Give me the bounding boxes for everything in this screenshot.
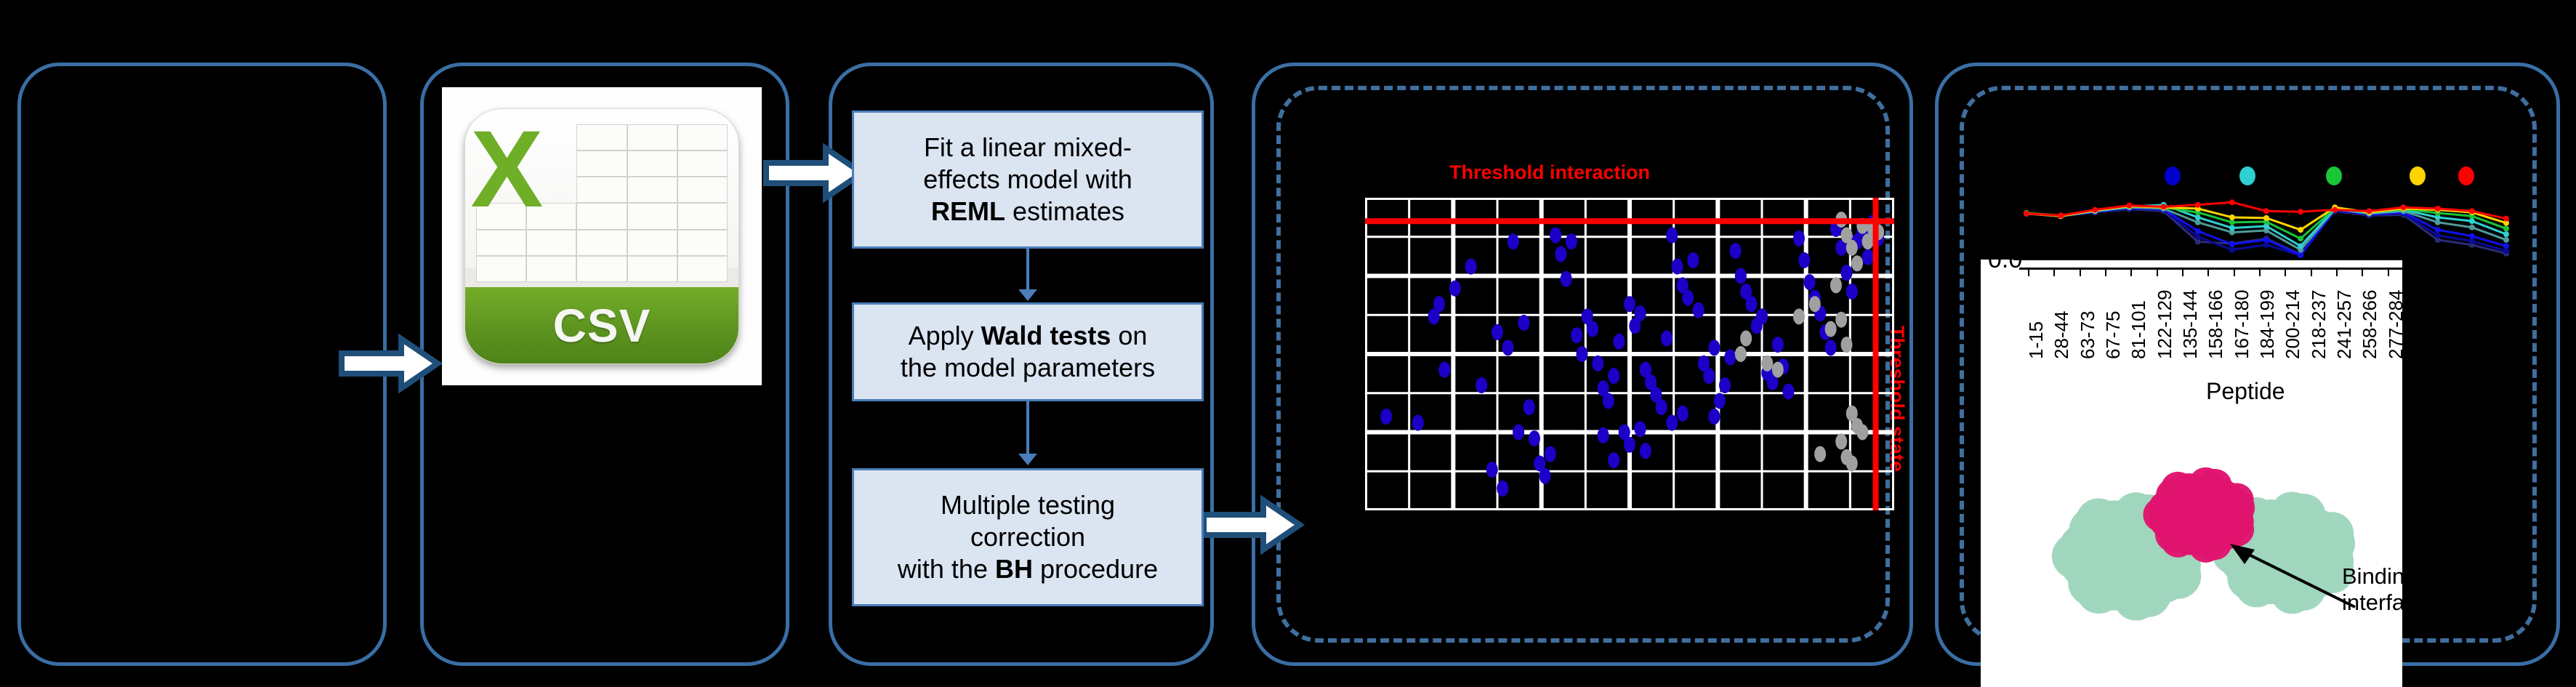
- scatter-point: [1449, 281, 1461, 297]
- scatter-point: [1608, 452, 1619, 468]
- peptide-x-tick: 258-266: [2359, 290, 2381, 359]
- peptide-x-tick: 277-284: [2385, 290, 2407, 359]
- step-bh-line3-post: procedure: [1033, 554, 1158, 584]
- peptide-series-point: [2435, 206, 2441, 212]
- spreadsheet-cell: [576, 203, 627, 229]
- peptide-series-point: [2263, 242, 2269, 248]
- arrow-to-csv: [339, 334, 440, 393]
- scatter-point: [1571, 327, 1582, 343]
- scatter-point: [1809, 296, 1821, 312]
- peptide-series-point: [2435, 233, 2441, 238]
- step-reml-box[interactable]: Fit a linear mixed- effects model with R…: [852, 111, 1204, 249]
- scatter-point: [1598, 427, 1609, 443]
- excel-x-glyph: X: [470, 114, 569, 221]
- scatter-point: [1624, 296, 1635, 312]
- peptide-series-point: [2229, 247, 2235, 253]
- scatter-point: [1518, 315, 1529, 331]
- scatter-point: [1682, 290, 1694, 306]
- scatter-point: [1851, 255, 1863, 271]
- spreadsheet-cell: [576, 230, 627, 256]
- step-bh-line2: correction: [970, 522, 1085, 552]
- peptide-series-point: [2195, 228, 2201, 234]
- binding-interface-line1: Binding: [2342, 563, 2417, 589]
- scatter-point: [1492, 324, 1503, 340]
- spreadsheet-cell: [627, 150, 677, 177]
- peptide-series-point: [2503, 244, 2509, 249]
- peptide-x-axis-title: Peptide: [2206, 378, 2285, 405]
- peptide-series-point: [2435, 220, 2441, 225]
- peptide-series-point: [2332, 207, 2338, 213]
- spreadsheet-cell: [576, 124, 627, 150]
- peptide-series-point: [2298, 227, 2303, 233]
- scatter-point: [1856, 425, 1868, 441]
- scatter-point: [1825, 321, 1837, 337]
- scatter-point: [1666, 228, 1678, 244]
- spreadsheet-cell: [627, 177, 677, 203]
- scatter-point: [1714, 393, 1726, 409]
- csv-file-icon[interactable]: X CSV: [442, 87, 762, 385]
- scatter-point: [1693, 302, 1704, 318]
- peptide-series-point: [2229, 225, 2235, 231]
- legend-dot-1: [2239, 166, 2255, 185]
- peptide-x-tick: 122-129: [2154, 290, 2176, 359]
- scatter-point: [1793, 308, 1805, 324]
- peptide-series-point: [2503, 248, 2509, 254]
- peptide-series-point: [2024, 211, 2029, 217]
- peptide-series-point: [2195, 202, 2201, 208]
- scatter-point: [1428, 308, 1440, 324]
- scatter-point: [1814, 446, 1826, 462]
- scatter-point: [1724, 349, 1736, 365]
- scatter-point: [1476, 377, 1487, 393]
- peptide-series-point: [2366, 208, 2372, 214]
- spreadsheet-row: [476, 256, 728, 282]
- step-bh-line3-pre: with the: [898, 554, 995, 584]
- volcano-scatter-plot: [1365, 198, 1894, 510]
- scatter-point: [1412, 415, 1424, 431]
- scatter-point: [1740, 331, 1752, 347]
- spreadsheet-cell: [576, 177, 627, 203]
- peptide-series-point: [2503, 237, 2509, 243]
- scatter-point: [1672, 259, 1683, 275]
- spreadsheet-cell: [576, 150, 627, 177]
- scatter-point: [1603, 393, 1614, 409]
- scatter-point: [1555, 246, 1566, 262]
- peptide-series-point: [2469, 218, 2475, 224]
- connector-wald-to-bh-head: [1018, 454, 1037, 465]
- scatter-point: [1635, 305, 1646, 321]
- peptide-series-point: [2298, 209, 2303, 214]
- step-wald-box[interactable]: Apply Wald tests on the model parameters: [852, 302, 1204, 401]
- scatter-point: [1566, 233, 1577, 249]
- scatter-point: [1735, 346, 1747, 362]
- step-bh-box[interactable]: Multiple testing correction with the BH …: [852, 468, 1204, 606]
- scatter-point: [1539, 468, 1551, 484]
- step-wald-line2: the model parameters: [901, 353, 1155, 382]
- scatter-point: [1835, 433, 1847, 449]
- scatter-point: [1508, 233, 1519, 249]
- scatter-point: [1666, 415, 1678, 431]
- spreadsheet-cell: [677, 177, 728, 203]
- legend-dot-3: [2410, 166, 2426, 185]
- peptide-series-point: [2298, 236, 2303, 241]
- scatter-point: [1486, 462, 1498, 478]
- scatter-point: [1772, 362, 1784, 378]
- step-bh-line1: Multiple testing: [941, 490, 1115, 520]
- spreadsheet-cell: [526, 256, 576, 282]
- scatter-point: [1438, 362, 1450, 378]
- csv-band-label: CSV: [553, 299, 651, 353]
- binding-interface-label: Binding interface: [2342, 563, 2428, 615]
- scatter-point: [1708, 409, 1720, 425]
- scatter-point: [1677, 406, 1689, 422]
- peptide-legend: [2144, 164, 2493, 190]
- scatter-point: [1502, 340, 1514, 355]
- peptide-series-point: [2469, 208, 2475, 214]
- arrow-to-model: [763, 144, 865, 202]
- data-panel: [17, 63, 387, 666]
- spreadsheet-cell: [476, 230, 526, 256]
- scatter-point: [1846, 284, 1858, 300]
- peptide-series-point: [2435, 227, 2441, 233]
- scatter-point: [1735, 268, 1747, 284]
- scatter-point: [1613, 334, 1625, 350]
- connector-reml-to-wald: [1026, 249, 1029, 294]
- legend-dot-2: [2326, 166, 2342, 185]
- scatter-point: [1793, 230, 1805, 246]
- connector-wald-to-bh: [1026, 401, 1029, 458]
- peptide-x-tick: 63-73: [2077, 311, 2099, 360]
- scatter-point: [1592, 355, 1603, 371]
- step-bh-strong: BH: [995, 554, 1033, 584]
- peptide-x-tick: 1-15: [2025, 321, 2048, 359]
- peptide-x-tick: 81-101: [2128, 300, 2150, 359]
- peptide-x-tick: 184-199: [2256, 290, 2279, 359]
- scatter-point: [1656, 399, 1667, 415]
- legend-dot-4: [2458, 166, 2474, 185]
- scatter-point: [1497, 481, 1508, 497]
- peptide-series-point: [2298, 244, 2303, 249]
- peptide-x-tick: 158-166: [2205, 290, 2227, 359]
- peptide-series-point: [2195, 234, 2201, 240]
- peptide-series-point: [2229, 241, 2235, 247]
- spreadsheet-cell: [476, 256, 526, 282]
- scatter-point: [1703, 368, 1715, 384]
- peptide-tick-baseline: [2019, 268, 2404, 270]
- scatter-point: [1465, 259, 1477, 275]
- peptide-series-point: [2469, 238, 2475, 244]
- peptide-x-tick: 135-144: [2179, 290, 2202, 359]
- scatter-point: [1708, 340, 1720, 355]
- peptide-series-point: [2229, 214, 2235, 220]
- step-wald-strong: Wald tests: [981, 321, 1111, 350]
- peptide-series-point: [2229, 220, 2235, 225]
- peptide-x-tick-labels: 1-1528-4463-7367-7581-101122-129135-1441…: [2019, 268, 2404, 362]
- peptide-series-point: [2126, 203, 2132, 209]
- peptide-series-point: [2469, 225, 2475, 230]
- spreadsheet-cell: [627, 203, 677, 229]
- peptide-y-axis-label: 0.0: [1988, 246, 2022, 274]
- peptide-profile-chart: [2013, 188, 2522, 260]
- scatter-point: [1687, 252, 1699, 268]
- spreadsheet-cell: [677, 230, 728, 256]
- scatter-point: [1862, 249, 1874, 265]
- csv-icon: X CSV: [464, 108, 739, 365]
- diagram-canvas: X CSV Fit a linear mixed- effects model …: [0, 0, 2576, 687]
- spreadsheet-cell: [526, 230, 576, 256]
- peptide-x-tick: 200-214: [2282, 290, 2304, 359]
- scatter-point: [1576, 346, 1587, 362]
- peptide-series-point: [2058, 212, 2064, 218]
- spreadsheet-cell: [627, 256, 677, 282]
- csv-icon-card: X CSV: [464, 108, 739, 365]
- csv-band: CSV: [465, 287, 738, 363]
- peptide-x-tick: 28-44: [2050, 311, 2073, 360]
- peptide-series-point: [2263, 215, 2269, 221]
- spreadsheet-cell: [627, 230, 677, 256]
- scatter-point: [1640, 443, 1651, 459]
- peptide-series-point: [2229, 199, 2235, 205]
- step-reml-text: Fit a linear mixed- effects model with R…: [923, 132, 1132, 228]
- peptide-series-point: [2469, 233, 2475, 239]
- step-reml-strong: REML: [931, 196, 1005, 226]
- spreadsheet-cell: [677, 150, 728, 177]
- scatter-point: [1661, 331, 1673, 347]
- scatter-point: [1830, 277, 1842, 293]
- scatter-point: [1840, 265, 1852, 281]
- scatter-point: [1745, 296, 1757, 312]
- peptide-series-point: [2195, 214, 2201, 220]
- peptide-x-tick: 67-75: [2102, 311, 2125, 360]
- scatter-point: [1772, 337, 1784, 353]
- peptide-series-point: [2503, 225, 2509, 231]
- peptide-series-point: [2161, 204, 2167, 209]
- binding-interface-line2: interface: [2342, 590, 2428, 615]
- step-reml-line1: Fit a linear mixed-: [924, 132, 1132, 162]
- scatter-point: [1840, 337, 1852, 353]
- scatter-point: [1804, 274, 1816, 290]
- connector-reml-to-wald-head: [1018, 289, 1037, 301]
- legend-dot-0: [2165, 166, 2181, 185]
- scatter-point: [1835, 312, 1847, 328]
- peptide-series-point: [2092, 207, 2098, 213]
- peptide-x-tick: 167-180: [2231, 290, 2253, 359]
- scatter-point: [1524, 399, 1535, 415]
- spreadsheet-cell: [627, 124, 677, 150]
- scatter-point: [1635, 421, 1646, 437]
- peptide-series-point: [2503, 216, 2509, 222]
- spreadsheet-row: [476, 230, 728, 256]
- spreadsheet-cell: [576, 256, 627, 282]
- scatter-point: [1825, 340, 1837, 355]
- arrow-to-results: [1201, 496, 1303, 554]
- spreadsheet-cell: [677, 256, 728, 282]
- scatter-point: [1550, 228, 1561, 244]
- scatter-point: [1798, 252, 1810, 268]
- scatter-point: [1587, 321, 1598, 337]
- scatter-point: [1719, 377, 1731, 393]
- peptide-series-point: [2263, 208, 2269, 214]
- scatter-point: [1380, 409, 1392, 425]
- scatter-point: [1529, 430, 1540, 446]
- step-wald-line1-post: on: [1111, 321, 1147, 350]
- scatter-point: [1756, 308, 1768, 324]
- scatter-point: [1545, 446, 1556, 462]
- scatter-point: [1624, 437, 1635, 453]
- spreadsheet-cell: [677, 203, 728, 229]
- peptide-series-point: [2263, 237, 2269, 243]
- peptide-x-tick: 218-237: [2308, 290, 2330, 359]
- step-reml-line2: effects model with: [923, 164, 1132, 194]
- step-wald-text: Apply Wald tests on the model parameters: [901, 320, 1155, 384]
- threshold-interaction-label: Threshold interaction: [1449, 161, 1650, 184]
- step-wald-line1-pre: Apply: [909, 321, 981, 350]
- peptide-series-point: [2503, 231, 2509, 237]
- peptide-series-point: [2195, 220, 2201, 225]
- scatter-point: [1782, 384, 1794, 400]
- scatter-point: [1846, 456, 1858, 472]
- peptide-series-point: [2298, 252, 2303, 258]
- scatter-point: [1608, 368, 1619, 384]
- scatter-point: [1761, 355, 1773, 371]
- peptide-series-point: [2401, 204, 2407, 210]
- scatter-point: [1513, 425, 1524, 441]
- peptide-x-tick: 241-257: [2333, 290, 2356, 359]
- spreadsheet-cell: [677, 124, 728, 150]
- scatter-point: [1730, 243, 1742, 259]
- step-bh-text: Multiple testing correction with the BH …: [898, 489, 1158, 585]
- scatter-point: [1561, 271, 1572, 287]
- scatter-point: [1846, 240, 1858, 256]
- peptide-series-point: [2195, 239, 2201, 245]
- step-reml-line3-rest: estimates: [1005, 196, 1124, 226]
- protein-complex-figure: [2042, 422, 2384, 662]
